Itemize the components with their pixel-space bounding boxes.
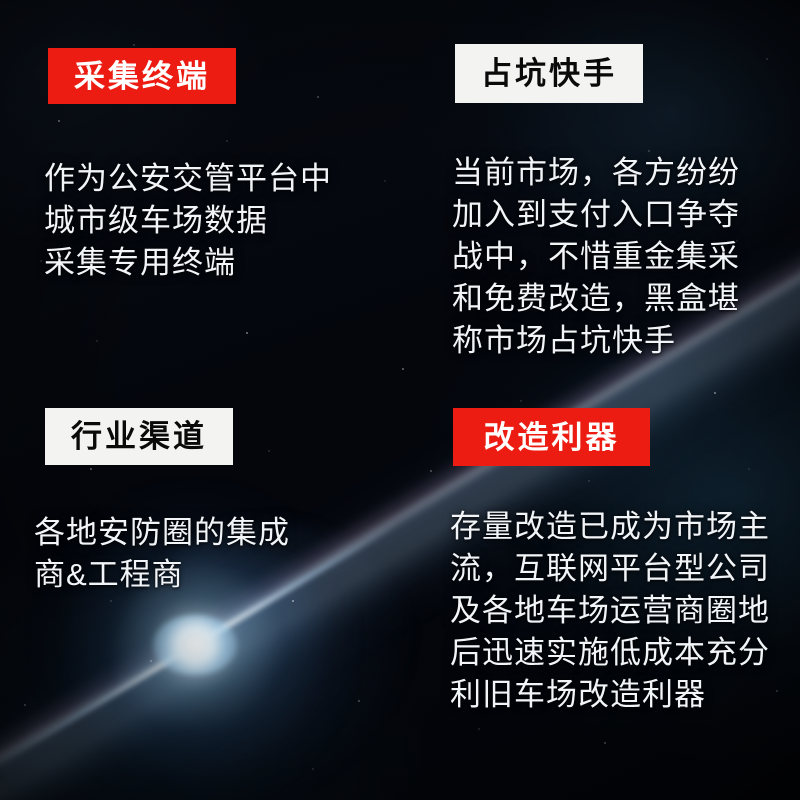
badge-squat-expert: 占坑快手 (455, 44, 643, 103)
body-text-collect-terminal: 作为公安交管平台中 城市级车场数据 采集专用终端 (44, 158, 374, 284)
badge-retrofit-tool: 改造利器 (453, 408, 650, 466)
poster-content: 采集终端 作为公安交管平台中 城市级车场数据 采集专用终端 占坑快手 当前市场，… (0, 0, 800, 800)
body-text-retrofit-tool: 存量改造已成为市场主 流，互联网平台型公司 及各地车场运营商圈地 后迅速实施低成… (450, 506, 795, 716)
body-text-industry-channel: 各地安防圈的集成 商&工程商 (34, 512, 364, 596)
body-text-squat-expert: 当前市场，各方纷纷 加入到支付入口争夺 战中，不惜重金集采 和免费改造，黑盒堪 … (452, 152, 792, 362)
badge-industry-channel: 行业渠道 (45, 408, 233, 465)
badge-collect-terminal: 采集终端 (48, 48, 236, 104)
